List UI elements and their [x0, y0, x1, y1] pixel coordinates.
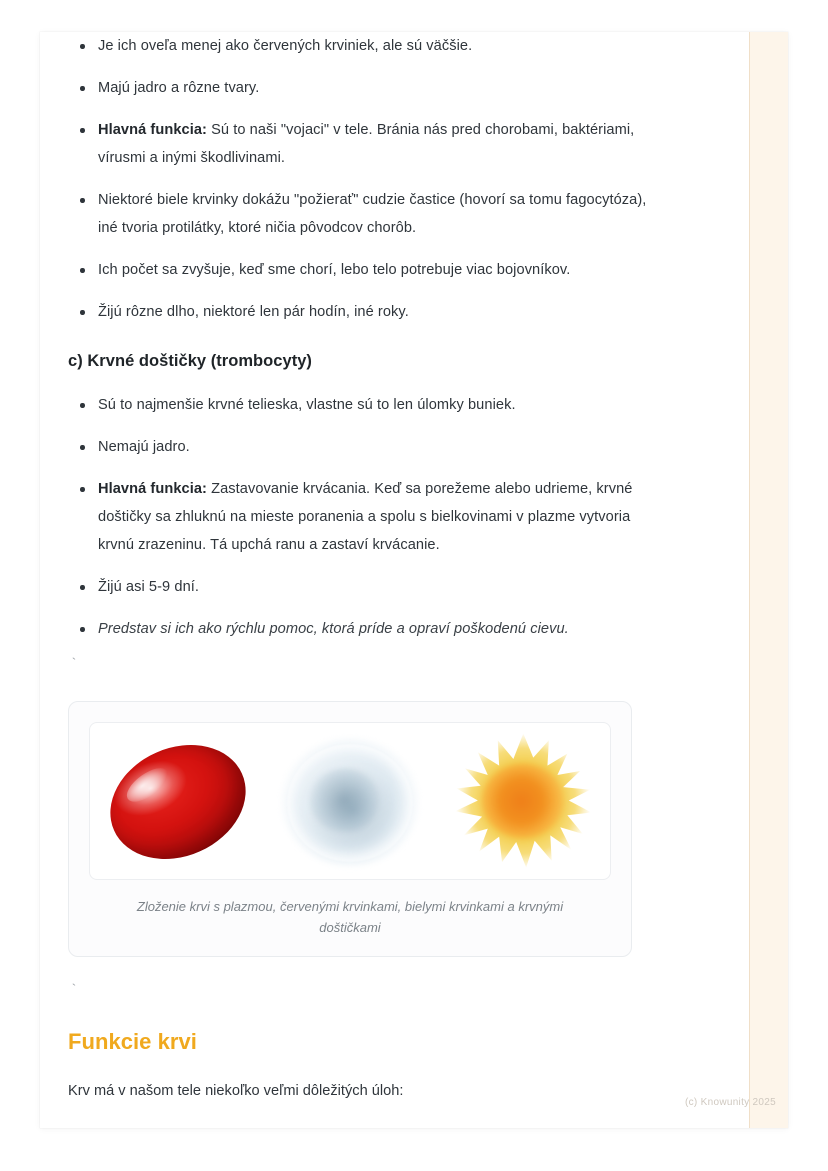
- white-blood-cells-bullet-list: Je ich oveľa menej ako červených krvinie…: [68, 32, 668, 326]
- list-item: Ich počet sa zvyšuje, keď sme chorí, leb…: [68, 256, 668, 284]
- page-content: Je ich oveľa menej ako červených krvinie…: [68, 32, 668, 1128]
- figure-card: Zloženie krvi s plazmou, červenými krvin…: [68, 701, 632, 957]
- list-item: Nemajú jadro.: [68, 433, 668, 461]
- document-page: (c) Knowunity 2025 Je ich oveľa menej ak…: [40, 32, 788, 1128]
- functions-intro-paragraph: Krv má v našom tele niekoľko veľmi dôlež…: [68, 1077, 668, 1105]
- functions-ordered-list: Transportná funkcia: Prenáša kyslík z pľ…: [68, 1127, 668, 1128]
- main-function-lead: Hlavná funkcia:: [98, 481, 207, 497]
- figure-caption: Zloženie krvi s plazmou, červenými krvin…: [89, 896, 611, 938]
- list-item: Je ich oveľa menej ako červených krvinie…: [68, 32, 668, 60]
- main-function-lead: Hlavná funkcia:: [98, 122, 207, 138]
- watermark-label: (c) Knowunity 2025: [685, 1097, 776, 1108]
- red-blood-cell-icon: [102, 734, 252, 869]
- list-item: Žijú rôzne dlho, niektoré len pár hodín,…: [68, 298, 668, 326]
- functions-heading: Funkcie krvi: [68, 1029, 668, 1055]
- list-item: Sú to najmenšie krvné telieska, vlastne …: [68, 391, 668, 419]
- platelets-subheading: c) Krvné doštičky (trombocyty): [68, 352, 668, 371]
- platelets-bullet-list: Sú to najmenšie krvné telieska, vlastne …: [68, 391, 668, 643]
- list-item-note: Predstav si ich ako rýchlu pomoc, ktorá …: [68, 615, 668, 643]
- list-item-numbered: Transportná funkcia: Prenáša kyslík z pľ…: [68, 1127, 668, 1128]
- page-side-panel: [749, 32, 788, 1128]
- list-item-main-function: Hlavná funkcia: Sú to naši "vojaci" v te…: [68, 116, 668, 172]
- code-backtick-mark-top: `: [70, 657, 668, 671]
- list-item: Žijú asi 5-9 dní.: [68, 573, 668, 601]
- list-item: Majú jadro a rôzne tvary.: [68, 74, 668, 102]
- list-item-main-function: Hlavná funkcia: Zastavovanie krvácania. …: [68, 475, 668, 559]
- figure-image-area: [89, 722, 611, 880]
- white-blood-cell-icon: [275, 734, 425, 869]
- list-item: Niektoré biele krvinky dokážu "požierať"…: [68, 186, 668, 242]
- italic-note: Predstav si ich ako rýchlu pomoc, ktorá …: [98, 621, 569, 637]
- code-backtick-mark-bottom: `: [70, 983, 668, 997]
- platelet-icon: [448, 734, 598, 869]
